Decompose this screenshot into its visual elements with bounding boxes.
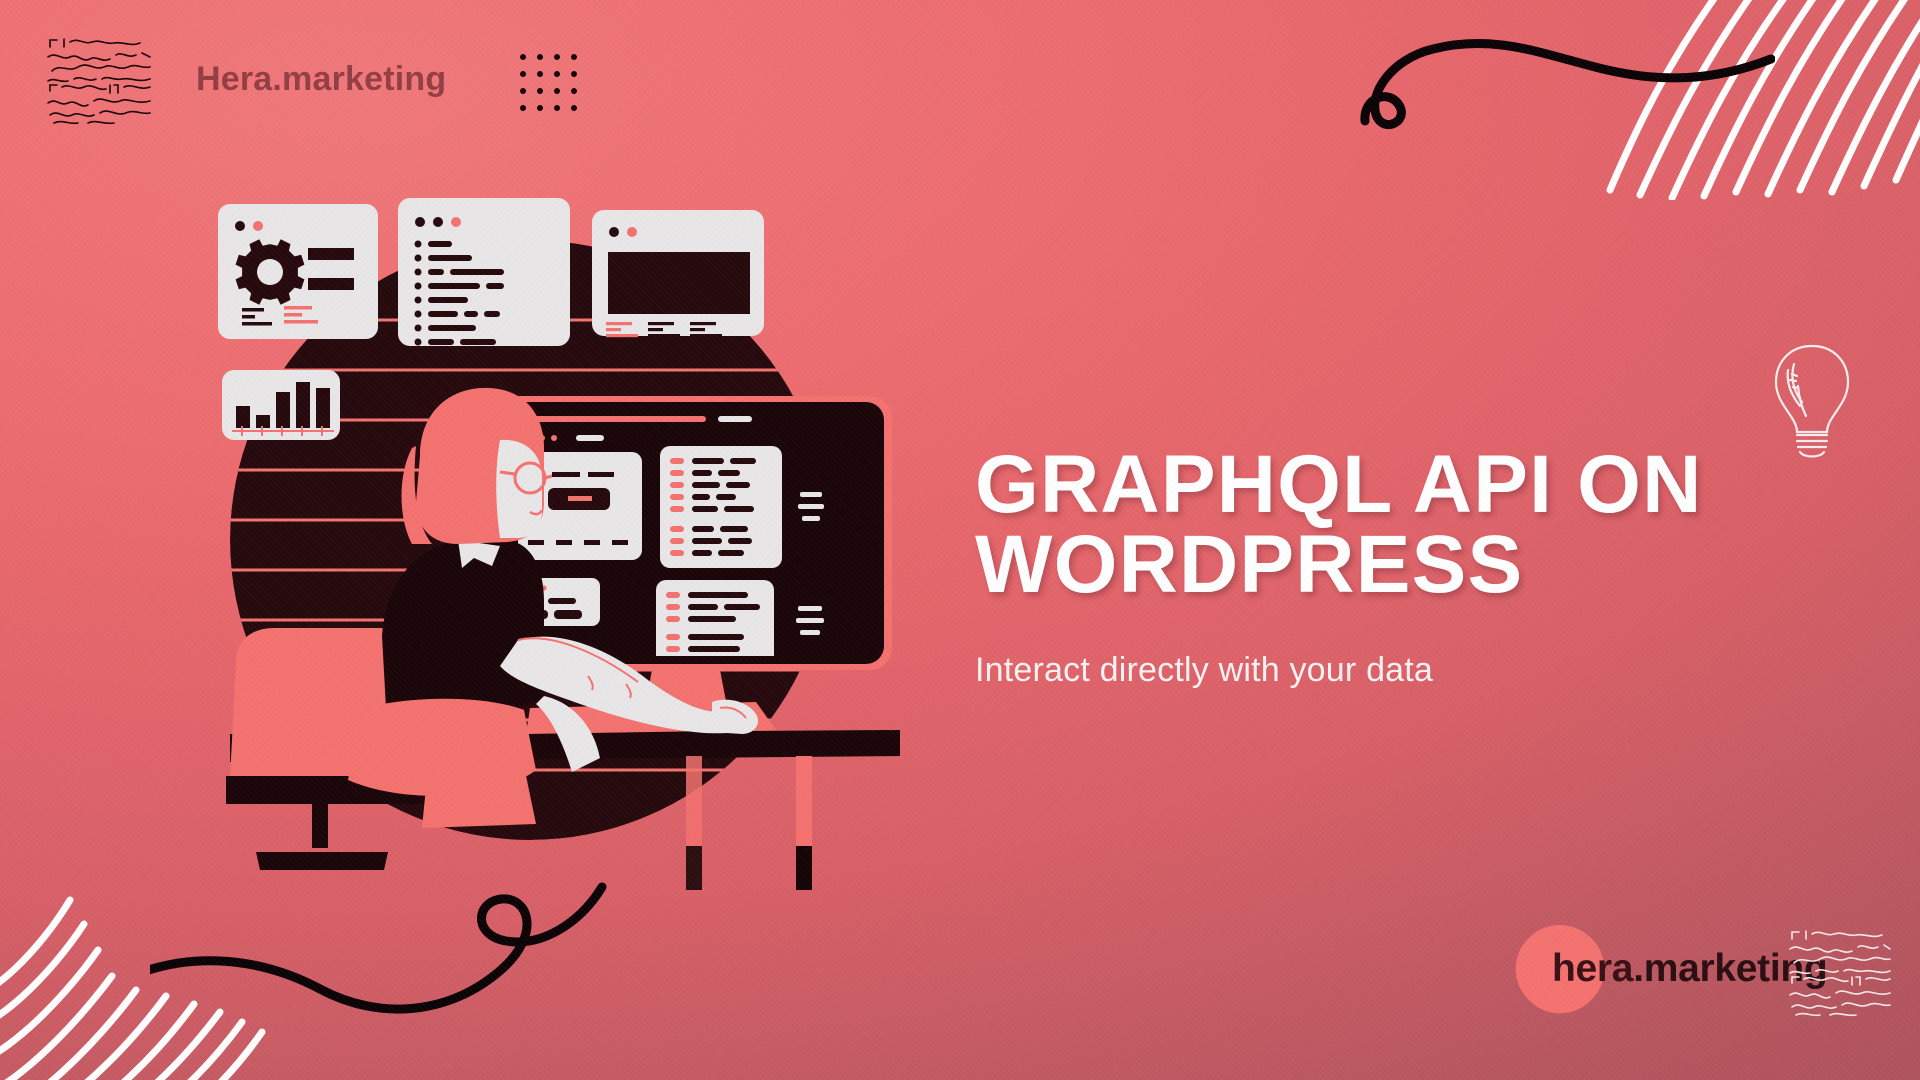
- chart-card: [222, 370, 340, 440]
- curly-line-icon: [1355, 25, 1775, 155]
- page-title: GRAPHQL API ON WORDPRESS: [975, 445, 1805, 604]
- settings-card: [218, 204, 378, 339]
- media-card: [592, 210, 764, 337]
- media-preview-icon: [608, 252, 750, 314]
- developer-at-desk-illustration: [200, 210, 940, 950]
- copy-block: GRAPHQL API ON WORDPRESS Interact direct…: [975, 445, 1805, 694]
- squiggle-pattern-icon: [1786, 925, 1894, 1021]
- squiggle-pattern-icon: [44, 33, 156, 128]
- headline-line-2: WORDPRESS: [975, 525, 1805, 605]
- page-subtitle: Interact directly with your data: [975, 646, 1495, 694]
- brand-wordmark-top[interactable]: Hera.marketing: [196, 60, 446, 99]
- dot-grid-icon: [518, 52, 580, 114]
- code-card: [398, 198, 570, 346]
- brand-name: hera: [1552, 947, 1633, 990]
- headline-line-1: GRAPHQL API ON: [975, 445, 1805, 525]
- lightbulb-icon: [1766, 340, 1858, 460]
- poster-canvas: Hera.marketing: [0, 0, 1920, 1080]
